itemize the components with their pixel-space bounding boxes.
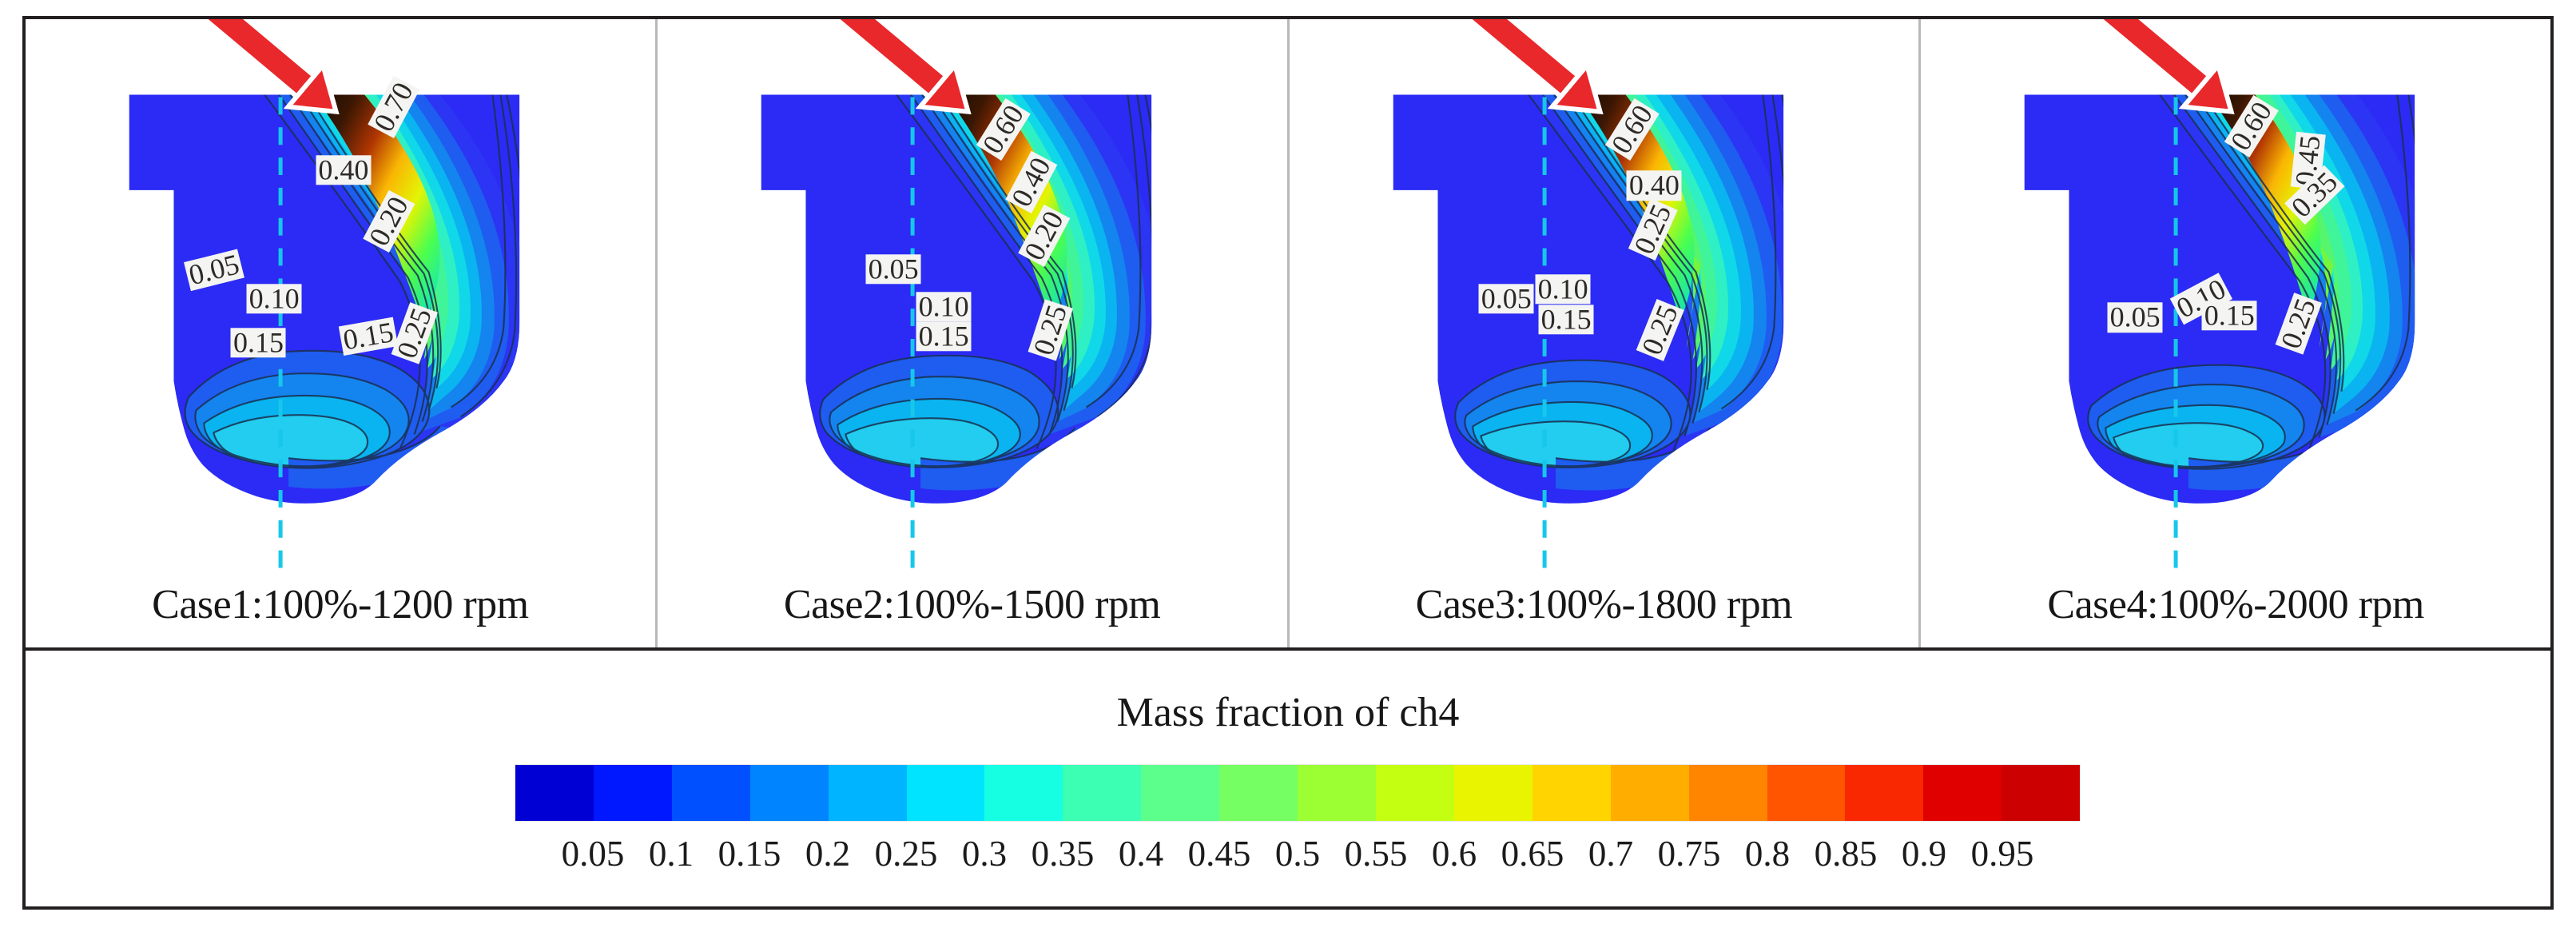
- panel-case1[interactable]: 0.70 0.40 0.20 0.05 0.10 0.15 0.15 0.25 …: [26, 19, 658, 647]
- colorbar-tick: 0.75: [1658, 833, 1721, 874]
- colorbar-tick: 0.45: [1188, 833, 1251, 874]
- panel-caption-case4: Case4:100%-2000 rpm: [1921, 581, 2550, 628]
- contour-label: 0.10: [247, 284, 302, 313]
- contour-label: 0.10: [1536, 274, 1591, 304]
- colorbar-tick: 0.55: [1345, 833, 1408, 874]
- colorbar-tick: 0.9: [1902, 833, 1946, 874]
- colorbar-segment-7: [1063, 765, 1141, 821]
- colorbar-tick: 0.6: [1432, 833, 1477, 874]
- colorbar-tick: 0.2: [805, 833, 850, 874]
- colorbar-tick: 0.25: [875, 833, 938, 874]
- colorbar-segment-13: [1532, 765, 1611, 821]
- panel-case4[interactable]: 0.60 0.45 0.35 0.05 0.10 0.15 0.25 Case4…: [1921, 19, 2550, 647]
- colorbar-tick-labels: 0.050.10.150.20.250.30.350.40.450.50.550…: [515, 833, 2081, 882]
- colorbar-segment-8: [1141, 765, 1219, 821]
- colorbar-segment-15: [1689, 765, 1767, 821]
- contour-label: 0.10: [916, 292, 972, 321]
- colorbar-block: Mass fraction of ch4 0.050.10.150.20.250…: [26, 651, 2550, 906]
- contour-label: 0.15: [916, 321, 972, 351]
- colorbar-title: Mass fraction of ch4: [26, 689, 2550, 736]
- contour-label: 0.15: [1539, 305, 1594, 334]
- colorbar-segment-12: [1454, 765, 1532, 821]
- colorbar-segment-18: [1923, 765, 2002, 821]
- contour-label: 0.05: [2108, 303, 2163, 333]
- colorbar-tick: 0.05: [562, 833, 625, 874]
- colorbar-tick: 0.4: [1119, 833, 1163, 874]
- colorbar-segment-10: [1298, 765, 1376, 821]
- panel-case3[interactable]: 0.60 0.40 0.25 0.05 0.10 0.15 0.25 Case3…: [1290, 19, 1922, 647]
- contour-svg-case2: [658, 19, 1287, 647]
- panel-caption-case1: Case1:100%-1200 rpm: [26, 581, 655, 628]
- colorbar-segment-5: [907, 765, 985, 821]
- contour-label: 0.40: [316, 155, 371, 185]
- contour-stage-case4: [1921, 19, 2550, 647]
- panel-row: 0.70 0.40 0.20 0.05 0.10 0.15 0.15 0.25 …: [26, 19, 2550, 651]
- colorbar-segment-2: [672, 765, 750, 821]
- colorbar-segment-4: [829, 765, 907, 821]
- panel-caption-case3: Case3:100%-1800 rpm: [1290, 581, 1919, 628]
- contour-svg-case4: [1921, 19, 2550, 647]
- colorbar-segment-16: [1767, 765, 1846, 821]
- contour-svg-case3: [1290, 19, 1919, 647]
- contour-stage-case2: [658, 19, 1287, 647]
- contour-label: 0.40: [1627, 171, 1682, 201]
- colorbar-tick: 0.15: [718, 833, 781, 874]
- colorbar-strip[interactable]: [515, 764, 2081, 822]
- colorbar-tick: 0.65: [1501, 833, 1564, 874]
- colorbar-segment-19: [2002, 765, 2080, 821]
- colorbar-segment-0: [515, 765, 594, 821]
- colorbar-segment-11: [1376, 765, 1454, 821]
- figure-frame: 0.70 0.40 0.20 0.05 0.10 0.15 0.15 0.25 …: [22, 16, 2554, 910]
- colorbar-tick: 0.7: [1588, 833, 1633, 874]
- colorbar-segment-9: [1219, 765, 1298, 821]
- contour-label: 0.05: [866, 254, 921, 284]
- colorbar-segment-1: [594, 765, 672, 821]
- colorbar-segment-17: [1845, 765, 1923, 821]
- colorbar-tick: 0.8: [1745, 833, 1790, 874]
- figure-root: 0.70 0.40 0.20 0.05 0.10 0.15 0.15 0.25 …: [0, 0, 2576, 928]
- colorbar-tick: 0.95: [1971, 833, 2034, 874]
- panel-caption-case2: Case2:100%-1500 rpm: [658, 581, 1287, 628]
- colorbar-segment-3: [750, 765, 829, 821]
- colorbar-tick: 0.35: [1032, 833, 1095, 874]
- colorbar-segment-14: [1611, 765, 1689, 821]
- colorbar-tick: 0.5: [1275, 833, 1320, 874]
- contour-label: 0.15: [231, 328, 286, 357]
- panel-case2[interactable]: 0.60 0.40 0.20 0.05 0.10 0.15 0.25 Case2…: [658, 19, 1290, 647]
- colorbar-tick: 0.1: [649, 833, 694, 874]
- colorbar-tick: 0.3: [962, 833, 1007, 874]
- colorbar-segment-6: [984, 765, 1063, 821]
- contour-label: 0.05: [1479, 284, 1534, 313]
- contour-label: 0.15: [2202, 301, 2257, 330]
- contour-stage-case3: [1290, 19, 1919, 647]
- colorbar-tick: 0.85: [1815, 833, 1878, 874]
